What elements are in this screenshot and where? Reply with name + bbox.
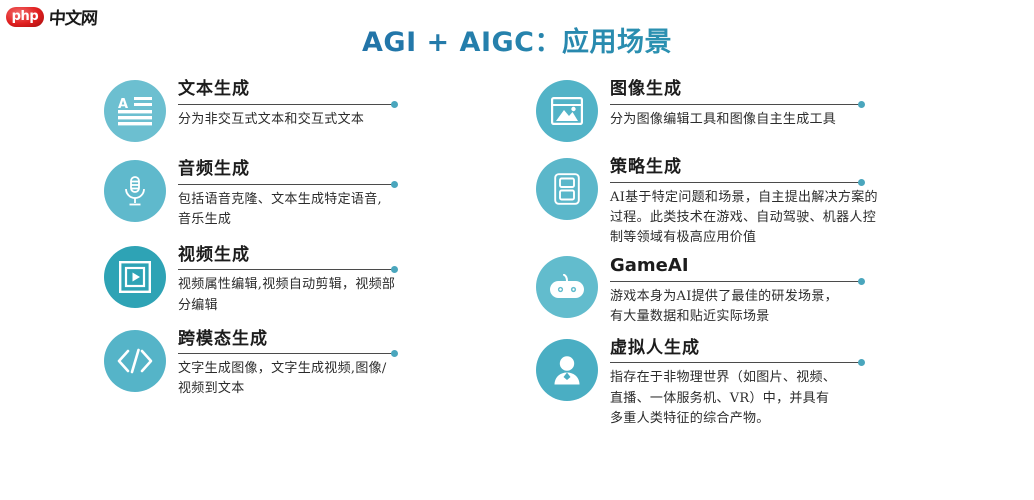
scenario-title: 图像生成 <box>610 80 956 100</box>
scenario-body: 视频生成视频属性编辑,视频自动剪辑，视频部 分编辑 <box>178 244 504 316</box>
scenario-body: 文本生成分为非交互式文本和交互式文本 <box>178 78 504 130</box>
connector-line <box>178 184 393 185</box>
scenario-description: 分为图像编辑工具和图像自主生成工具 <box>610 110 956 130</box>
connector-line <box>178 269 393 270</box>
scenario-title: 虚拟人生成 <box>610 339 956 359</box>
scenario-title: GameAI <box>610 256 956 277</box>
scenario-title: 文本生成 <box>178 80 504 100</box>
scenario-description: 指存在于非物理世界（如图片、视频、 直播、一体服务机、VR）中，并具有 多重人类… <box>610 368 956 428</box>
scenario-body: 音频生成包括语音克隆、文本生成特定语音, 音乐生成 <box>178 158 504 230</box>
scenario-description: 游戏本身为AI提供了最佳的研发场景， 有大量数据和贴近实际场景 <box>610 287 956 327</box>
connector-line <box>610 281 860 282</box>
scenario-description: 分为非交互式文本和交互式文本 <box>178 110 504 130</box>
microphone-icon <box>104 160 166 222</box>
left-column: A 文本生成分为非交互式文本和交互式文本 音频生成包括语音克隆、文本生成特定语音… <box>104 78 504 399</box>
image-picture-icon <box>536 80 598 142</box>
scenario-description: 包括语音克隆、文本生成特定语音, 音乐生成 <box>178 190 504 230</box>
scenario-item[interactable]: 视频生成视频属性编辑,视频自动剪辑，视频部 分编辑 <box>104 244 504 316</box>
scenario-body: 图像生成分为图像编辑工具和图像自主生成工具 <box>610 78 956 130</box>
connector-line <box>610 182 860 183</box>
scenario-body: GameAI游戏本身为AI提供了最佳的研发场景， 有大量数据和贴近实际场景 <box>610 254 956 327</box>
right-column: 图像生成分为图像编辑工具和图像自主生成工具 策略生成AI基于特定问题和场景，自主… <box>536 78 956 429</box>
video-play-icon <box>104 246 166 308</box>
scenario-body: 策略生成AI基于特定问题和场景，自主提出解决方案的 过程。此类技术在游戏、自动驾… <box>610 156 956 248</box>
text-document-icon: A <box>104 80 166 142</box>
scenario-body: 虚拟人生成指存在于非物理世界（如图片、视频、 直播、一体服务机、VR）中，并具有… <box>610 337 956 429</box>
page-title: AGI + AIGC：应用场景 <box>0 20 1034 59</box>
scenario-title: 跨模态生成 <box>178 330 504 350</box>
scenario-item[interactable]: 音频生成包括语音克隆、文本生成特定语音, 音乐生成 <box>104 158 504 230</box>
scenario-description: 文字生成图像，文字生成视频,图像/ 视频到文本 <box>178 359 504 399</box>
connector-line <box>178 353 393 354</box>
scenario-body: 跨模态生成文字生成图像，文字生成视频,图像/ 视频到文本 <box>178 328 504 400</box>
svg-text:A: A <box>118 97 128 112</box>
slide-canvas: php 中文网 AGI + AIGC：应用场景 A 文本生成分为非交互式文本和交… <box>0 0 1034 500</box>
scenario-description: AI基于特定问题和场景，自主提出解决方案的 过程。此类技术在游戏、自动驾驶、机器… <box>610 188 956 248</box>
scenario-title: 音频生成 <box>178 160 504 180</box>
gamepad-icon <box>536 256 598 318</box>
scenario-item[interactable]: 图像生成分为图像编辑工具和图像自主生成工具 <box>536 78 956 142</box>
connector-line <box>610 362 860 363</box>
scenario-title: 策略生成 <box>610 158 956 178</box>
scenario-item[interactable]: A 文本生成分为非交互式文本和交互式文本 <box>104 78 504 142</box>
connector-line <box>178 104 393 105</box>
connector-line <box>610 104 860 105</box>
strategy-book-icon <box>536 158 598 220</box>
scenario-item[interactable]: 虚拟人生成指存在于非物理世界（如图片、视频、 直播、一体服务机、VR）中，并具有… <box>536 337 956 429</box>
scenario-title: 视频生成 <box>178 246 504 266</box>
scenario-item[interactable]: 策略生成AI基于特定问题和场景，自主提出解决方案的 过程。此类技术在游戏、自动驾… <box>536 156 956 248</box>
avatar-person-icon <box>536 339 598 401</box>
scenario-description: 视频属性编辑,视频自动剪辑，视频部 分编辑 <box>178 275 504 315</box>
scenario-item[interactable]: 跨模态生成文字生成图像，文字生成视频,图像/ 视频到文本 <box>104 328 504 400</box>
code-brackets-icon <box>104 330 166 392</box>
scenario-item[interactable]: GameAI游戏本身为AI提供了最佳的研发场景， 有大量数据和贴近实际场景 <box>536 254 956 327</box>
